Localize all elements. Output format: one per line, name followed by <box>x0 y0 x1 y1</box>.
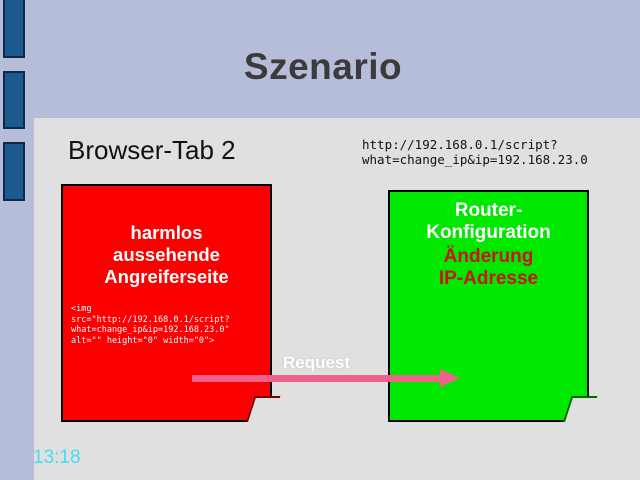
attacker-page-title: harmlos aussehende Angreiferseite <box>63 222 270 288</box>
browser-tab-heading: Browser-Tab 2 <box>68 135 236 166</box>
slide-canvas: Szenario Browser-Tab 2 http://192.168.0.… <box>0 0 640 480</box>
router-config-page-box: Router- Konfiguration Änderung IP-Adress… <box>388 190 589 422</box>
request-arrow-head-icon <box>440 369 460 387</box>
router-page-title-secondary: Änderung IP-Adresse <box>390 246 587 290</box>
request-url-text: http://192.168.0.1/script? what=change_i… <box>362 137 588 167</box>
page-title: Szenario <box>0 46 640 88</box>
clock: 13:18 <box>33 447 81 469</box>
decorative-bar-3 <box>3 142 25 201</box>
request-arrow-line-icon <box>192 375 445 382</box>
router-page-title-primary: Router- Konfiguration <box>390 200 587 244</box>
attacker-page-box: harmlos aussehende Angreiferseite <img s… <box>61 184 272 422</box>
request-arrow-label: Request <box>283 353 350 373</box>
img-tag-code-snippet: <img src="http://192.168.0.1/script? wha… <box>71 304 230 346</box>
